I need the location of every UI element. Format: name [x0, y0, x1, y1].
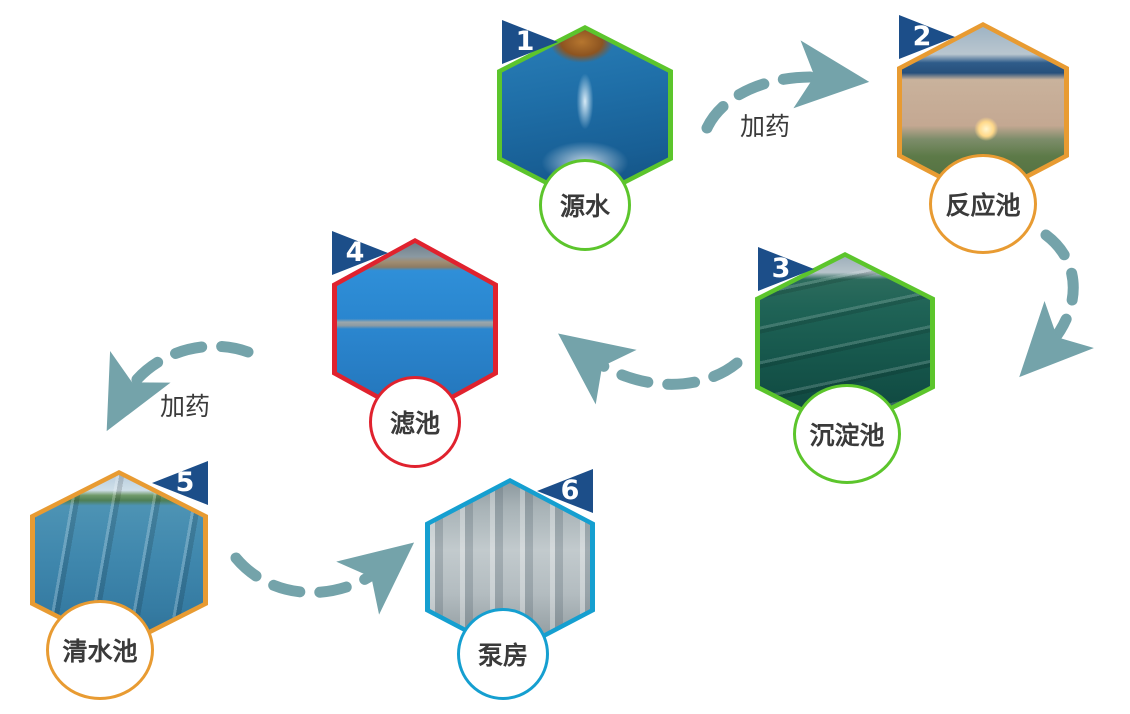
- flow-label-dosing-1: 加药: [740, 107, 790, 143]
- arrow-3-to-4: [588, 356, 737, 384]
- label-clear-water-tank: 清水池: [46, 600, 154, 700]
- label-filter-tank: 滤池: [369, 376, 461, 468]
- label-sedimentation-tank: 沉淀池: [793, 384, 901, 484]
- label-pump-house: 泵房: [457, 608, 549, 700]
- process-flow-diagram: 加药 加药 1 源水 2 反应池 3 沉淀池 4 滤池: [0, 0, 1130, 714]
- arrow-2-to-3: [1045, 235, 1073, 350]
- flow-label-dosing-2: 加药: [160, 387, 210, 423]
- label-reaction-tank: 反应池: [929, 154, 1037, 254]
- arrow-5-to-6: [236, 558, 385, 593]
- label-source-water: 源水: [539, 159, 631, 251]
